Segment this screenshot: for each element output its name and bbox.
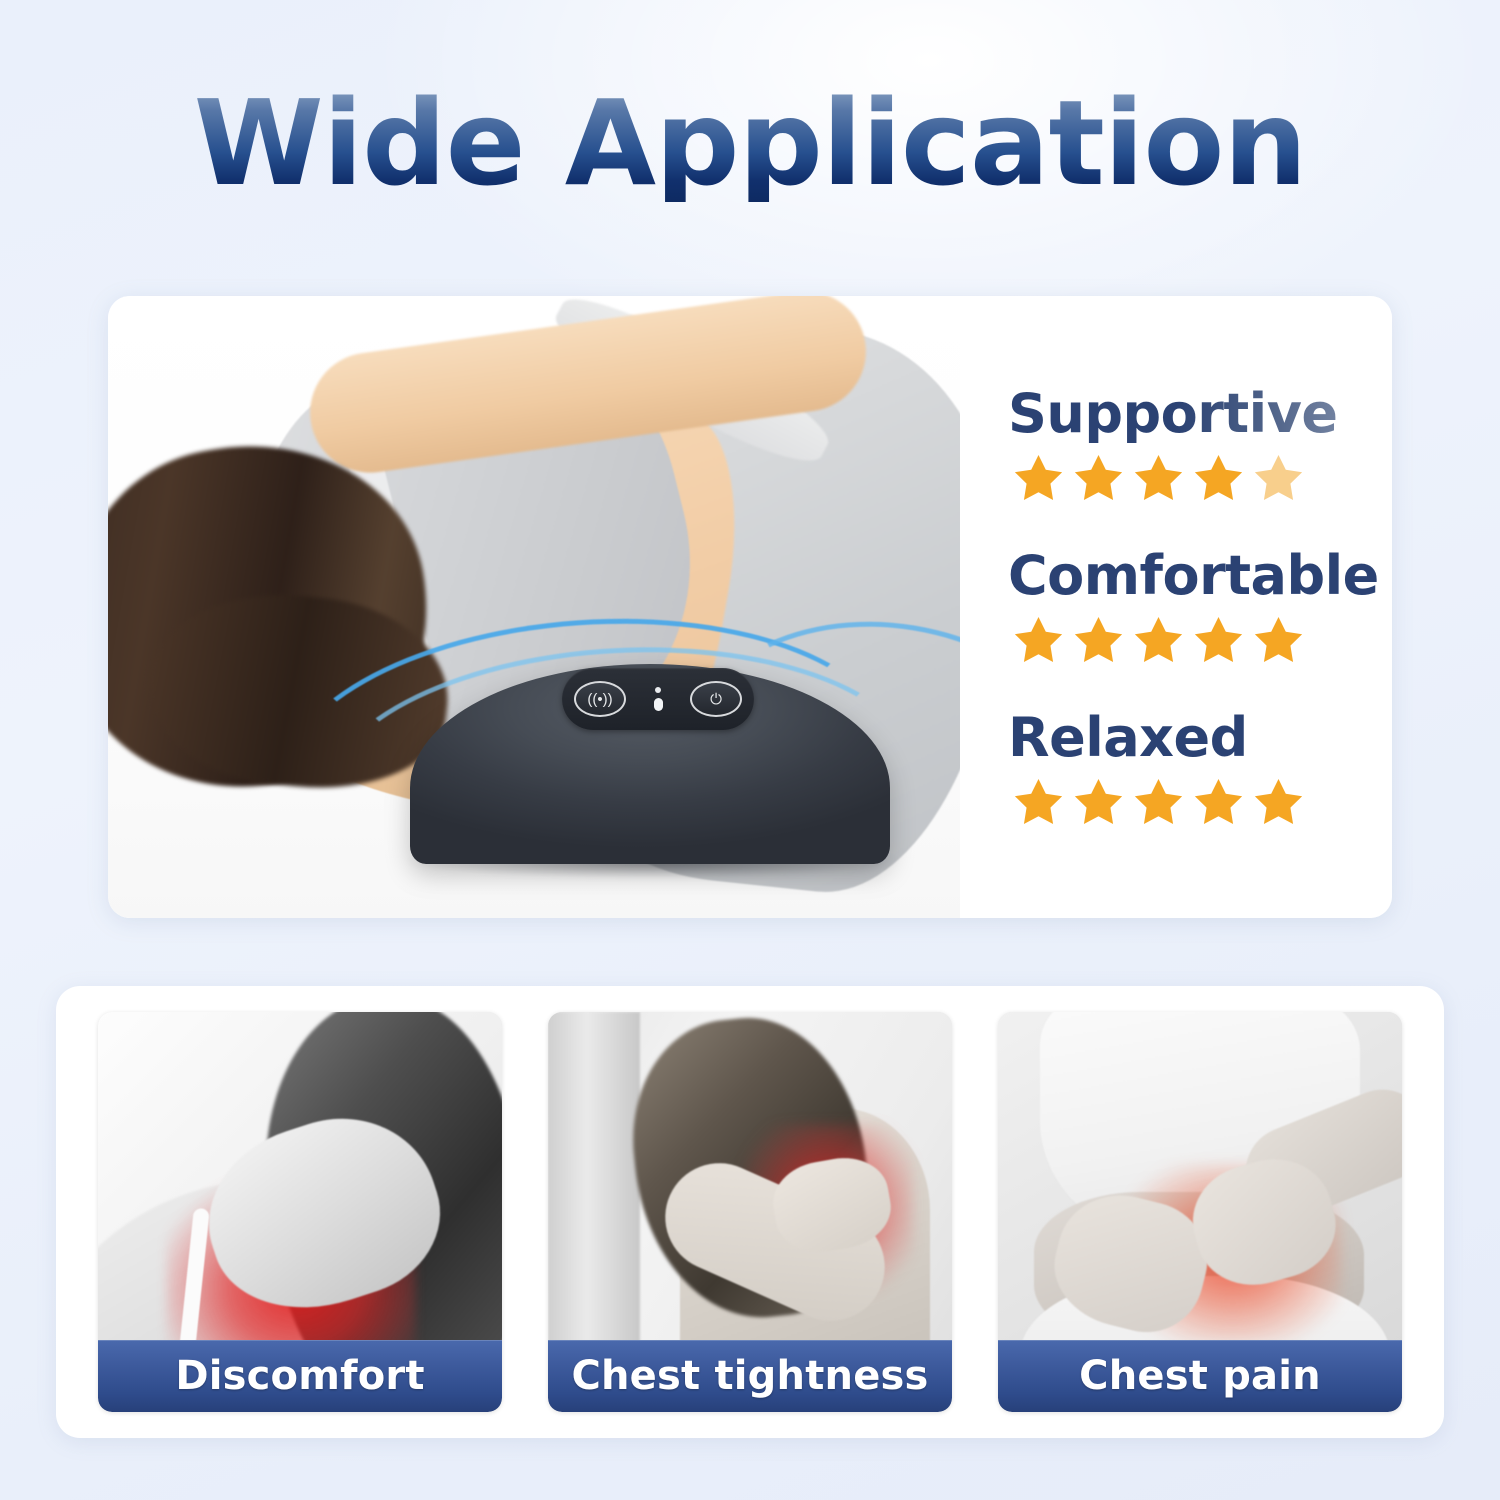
rating-row-supportive: Supportive xyxy=(1008,386,1392,504)
star-icon-filled xyxy=(1012,451,1065,504)
star-icon-filled xyxy=(1252,775,1305,828)
rating-label: Comfortable xyxy=(1008,548,1392,605)
star-icon-filled xyxy=(1132,451,1185,504)
star-icon-filled xyxy=(1132,775,1185,828)
page-title-container: Wide Application xyxy=(0,84,1500,202)
use-cases-card: Discomfort Chest tightness Chest pain xyxy=(56,986,1444,1438)
massage-mode-button[interactable]: ((•)) xyxy=(574,681,626,717)
use-case-chest-pain[interactable]: Chest pain xyxy=(998,1012,1402,1412)
use-case-label: Discomfort xyxy=(98,1340,502,1412)
rating-row-comfortable: Comfortable xyxy=(1008,548,1392,666)
led-indicator-small xyxy=(655,687,661,693)
star-rating xyxy=(1012,613,1392,666)
rating-label: Supportive xyxy=(1008,386,1392,443)
use-case-label: Chest tightness xyxy=(548,1340,952,1412)
hero-card: ((•)) ⏻ Supportive Comfortable xyxy=(108,296,1392,918)
star-icon-filled xyxy=(1072,613,1125,666)
star-icon-filled xyxy=(1192,613,1245,666)
star-icon-filled xyxy=(1192,775,1245,828)
device-led-indicators xyxy=(654,687,663,711)
star-icon-filled xyxy=(1132,613,1185,666)
hero-product-photo: ((•)) ⏻ xyxy=(108,296,960,918)
use-case-discomfort[interactable]: Discomfort xyxy=(98,1012,502,1412)
ratings-panel: Supportive Comfortable Relaxed xyxy=(960,296,1392,918)
star-icon-empty xyxy=(1252,451,1305,504)
star-icon-filled xyxy=(1012,775,1065,828)
star-icon-filled xyxy=(1252,613,1305,666)
page-title: Wide Application xyxy=(194,84,1307,202)
star-icon-filled xyxy=(1072,451,1125,504)
led-indicator-large xyxy=(654,698,663,711)
star-rating xyxy=(1012,451,1392,504)
star-icon-filled xyxy=(1072,775,1125,828)
star-icon-filled xyxy=(1192,451,1245,504)
star-rating xyxy=(1012,775,1392,828)
use-case-chest-tightness[interactable]: Chest tightness xyxy=(548,1012,952,1412)
use-case-label: Chest pain xyxy=(998,1340,1402,1412)
rating-label: Relaxed xyxy=(1008,710,1392,767)
star-icon-filled xyxy=(1012,613,1065,666)
rating-row-relaxed: Relaxed xyxy=(1008,710,1392,828)
